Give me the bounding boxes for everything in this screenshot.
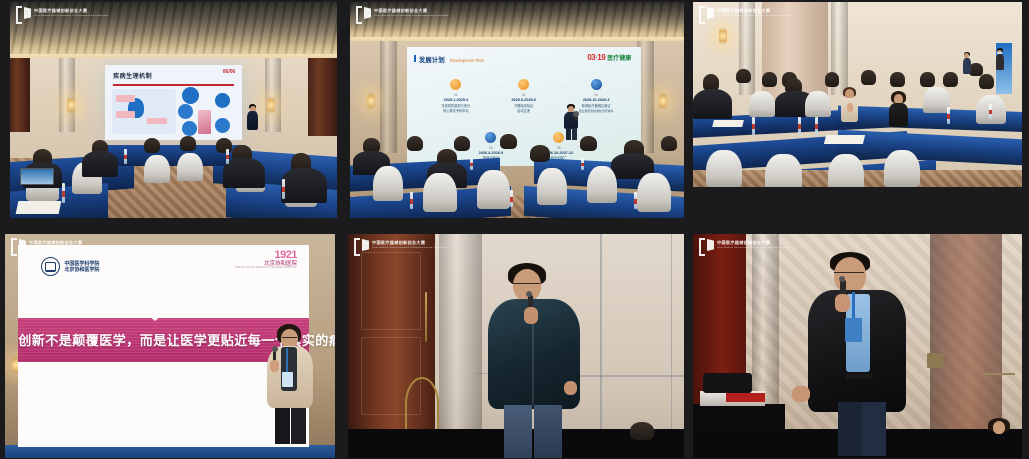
water-bottle [282,179,285,198]
lanyard [286,348,288,374]
banner-notch [146,313,164,321]
audience-head-silhouette [630,422,654,440]
wall-seam-vertical [600,234,602,429]
event-watermark: 中国医疗器械创新创业大赛 China Medical Device Innova… [699,6,792,20]
watermark-title-en: China Medical Device Innovation & Entrep… [372,247,447,249]
slide-header: 发展计划 Development Plan [414,54,484,64]
wooden-door-right [930,234,1002,429]
watermark-title-en: China Medical Device Innovation & Entrep… [717,247,792,249]
photo-6-scene [693,234,1022,458]
institution-line-2: 北京协和医学院 [64,267,99,273]
photo-3-scene [693,2,1022,187]
timeline-date: 2025.10-2026.3 [561,98,631,102]
water-bottle [410,192,413,209]
chair [805,91,831,117]
audience-head [969,63,982,76]
photo-tile-6[interactable]: 中国医疗器械创新创业大赛 China Medical Device Innova… [693,234,1022,458]
wood-panel-right [308,58,337,136]
audience-head [530,145,550,162]
slide-highlight-chip [116,111,135,118]
audience-head [180,136,196,151]
chair [884,150,920,187]
audience-shoulder [82,151,118,177]
paper-document [15,201,60,214]
event-watermark: 中国医疗器械创新创业大赛 China Medical Device Innova… [356,6,449,20]
belt [846,374,872,379]
slide-title: 疾病生理机制 [113,71,152,80]
watermark-title-cn: 中国医疗器械创新创业大赛 [374,9,449,13]
audience-head [890,72,905,87]
name-badge [282,372,293,387]
glasses-icon [834,272,864,275]
slide-brand-logo: 03·19 医疗健康 [587,53,631,62]
slide-highlight-chip [116,95,135,102]
timeline-dot-icon [485,132,496,143]
event-watermark: 中国医疗器械创新创业大赛 China Medical Device Innova… [16,6,109,20]
clapping-hands [847,103,853,112]
slide-date-badge: 03·19 [587,53,605,62]
watermark-title-cn: 中国医疗器械创新创业大赛 [717,241,792,245]
chair [144,155,170,183]
watermark-title-en: China Medical Device Innovation & Entrep… [374,15,449,17]
audience-head [144,138,160,153]
photo-tile-2[interactable]: 发展计划 Development Plan 03·19 医疗健康 01 2025… [350,2,684,218]
speaker-hand [792,386,810,402]
door-handle-rail [425,292,427,341]
watermark-title-en: China Medical Device Innovation & Entrep… [717,15,792,17]
slide-node-bubble [182,87,199,104]
speaker-figure [486,263,582,458]
paper-document [823,135,865,144]
wall-rail [983,373,1016,375]
water-bottle [62,183,65,202]
timeline-text-2: 核心算法专利申请 [425,109,486,114]
timeline-dot-icon [591,79,602,90]
wall-seam-horizontal [576,375,684,377]
brand-name-en: PEKING UNION MEDICAL COLLEGE HOSPITAL [235,267,297,269]
hospital-brand: 1921 北京协和医院 PEKING UNION MEDICAL COLLEGE… [235,249,297,269]
competition-logo-icon [356,6,371,20]
chair [923,87,949,113]
water-bottle [634,192,637,209]
photo-tile-4[interactable]: 中国医学科学院 北京协和医学院 1921 北京协和医院 PEKING UNION… [5,234,335,458]
competition-logo-icon [16,6,31,20]
wall-column [439,234,483,429]
speaker-hand [270,360,279,372]
competition-logo-icon [11,238,26,252]
institution-logo: 中国医学科学院 北京协和医学院 [41,257,99,276]
standing-attendee-masked [996,48,1004,70]
water-bottle [581,158,584,171]
chair [537,168,567,205]
watermark-title-cn: 中国医疗器械创新创业大赛 [717,9,792,13]
speaker-hand [564,381,577,395]
chair [477,170,510,209]
chair [177,153,203,181]
timeline-dot-icon [553,132,564,143]
event-watermark: 中国医疗器械创新创业大赛 China Medical Device Innova… [354,238,447,252]
slide-node-bubble [182,121,197,136]
laptop [20,168,55,185]
speaker-hand [835,294,850,312]
audience-head [661,136,678,151]
audience-head [216,138,232,153]
chair-back-gold [405,377,439,431]
watermark-title-cn: 中国医疗器械创新创业大赛 [372,241,447,245]
slide-image-thumb [198,110,210,134]
slide-page-number: 06/06 [223,69,236,75]
red-stripe-box [726,393,765,402]
side-table [693,404,785,431]
photo-5-scene [348,234,684,458]
chair [637,173,670,212]
watermark-title-cn: 中国医疗器械创新创业大赛 [34,9,109,13]
pillar-right [265,58,281,131]
wall-sconce [719,28,727,44]
slide-node-bubble [178,104,193,119]
audience-head [500,134,517,149]
timeline-dot-icon [518,79,529,90]
timeline-date: 2025.1-2025.4 [425,98,486,102]
slide-highlight-chip [147,118,166,125]
chair [706,150,742,187]
audience-head [920,72,935,87]
chair [765,154,801,187]
pillar-left [59,58,75,131]
audience-shoulder [281,168,327,203]
standing-attendee [963,52,971,74]
competition-logo-icon [354,238,369,252]
presenter-figure [247,104,258,130]
timeline-date: 2026.4-2026.9 [461,151,522,155]
event-watermark: 中国医疗器械创新创业大赛 China Medical Device Innova… [11,238,104,252]
slide-title-rule [113,84,234,86]
watermark-title-en: China Medical Device Innovation & Entrep… [34,15,109,17]
chair [587,166,617,203]
slide-logo-cn: 医疗健康 [607,53,631,62]
audience-head [736,69,751,84]
timeline-date: 2025.5-2025.9 [493,98,554,102]
audience-head [825,72,840,87]
photo-1-scene: 疾病生理机制 06/06 [10,2,337,218]
photo-2-scene: 发展计划 Development Plan 03·19 医疗健康 01 2025… [350,2,684,218]
speaker-figure [263,324,315,458]
audience-shoulder [693,89,732,119]
wall-sconce-left [67,97,75,113]
title-accent-bar [414,55,416,62]
timeline-dot-icon [450,79,461,90]
water-bottle [989,104,992,119]
camera-bag [703,373,752,393]
water-bottle [947,107,950,124]
wall-sconce-right [659,93,667,109]
water-bottle [510,190,513,207]
presentation-screen: 疾病生理机制 06/06 [105,65,242,141]
water-bottle [124,149,127,164]
pillar-left [380,41,397,153]
slide-title-cn: 发展计划 [419,54,445,64]
timeline-number: 02 [493,93,554,97]
glasses-icon [513,283,540,286]
photo-grid: 疾病生理机制 06/06 [0,0,1029,459]
competition-logo-icon [699,6,714,20]
brand-mark: 1921 [235,249,297,261]
timeline-text-2: 启动注册 [493,109,554,114]
name-badge [845,318,862,342]
timeline-node-1: 01 2025.1-2025.4 完成样机原型与迭代 核心算法专利申请 [425,79,486,113]
photo-4-scene: 中国医学科学院 北京协和医学院 1921 北京协和医院 PEKING UNION… [5,234,335,458]
door-plaque [927,353,943,369]
competition-logo-icon [699,238,714,252]
photo-tile-1[interactable]: 疾病生理机制 06/06 [10,2,337,218]
wall-seam-vertical [671,234,673,429]
audience-head [943,72,958,87]
speaker-figure [808,252,908,458]
institution-seal-icon [41,257,60,276]
development-plan-screen: 发展计划 Development Plan 03·19 医疗健康 01 2025… [407,47,641,166]
water-bottle [752,117,755,136]
paper-document [712,120,743,127]
wall-sconce-right [267,97,275,113]
audience-head [979,74,994,89]
wall-sconce-left [367,93,375,109]
door-panel [361,252,420,330]
timeline-number: 03 [561,93,631,97]
watermark-title-cn: 中国医疗器械创新创业大赛 [29,241,104,245]
wood-panel-left [10,58,30,131]
slide-node-bubble [215,93,230,108]
audience-head [407,136,424,151]
audience-head [580,136,597,151]
chair [749,91,775,117]
water-bottle [815,117,818,136]
photo-tile-5[interactable]: 中国医疗器械创新创业大赛 China Medical Device Innova… [348,234,684,458]
slide-node-bubble [215,118,230,133]
presenter-figure [564,104,578,140]
water-bottle [470,158,473,171]
watermark-title-en: China Medical Device Innovation & Entrep… [29,247,104,249]
timeline-node-2: 02 2025.5-2025.9 开展临床验证 启动注册 [493,79,554,113]
audience-head [454,136,471,151]
timeline-number: 01 [425,93,486,97]
audience-head [861,70,876,85]
slide-title-en: Development Plan [450,58,484,63]
chair [373,166,403,201]
speaker-hand [524,307,538,324]
audience-head [762,72,777,87]
water-bottle [798,117,801,136]
event-watermark: 中国医疗器械创新创业大赛 China Medical Device Innova… [699,238,792,252]
photo-tile-3[interactable]: 中国医疗器械创新创业大赛 China Medical Device Innova… [693,2,1022,187]
glasses-icon [282,337,297,340]
chair [423,173,456,212]
attendee-right [986,418,1019,458]
chair [828,154,864,187]
water-bottle [226,149,229,164]
